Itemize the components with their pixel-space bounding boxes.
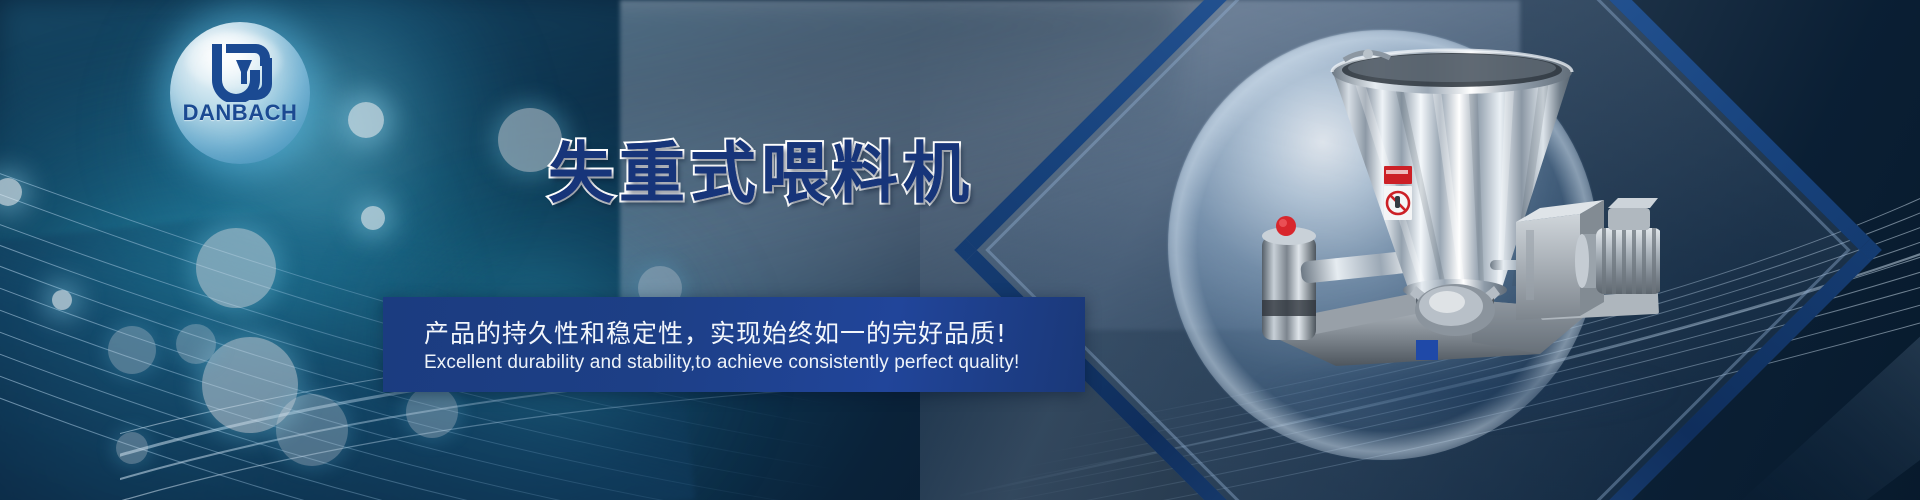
- bokeh-circle-14: [116, 432, 148, 464]
- product-hero-banner: DANBACH 失重式喂料机 失重式喂料机 产品的持久性和稳定性，实现始终如一的…: [0, 0, 1920, 500]
- brand-name: DANBACH: [166, 100, 314, 126]
- bokeh-circle-12: [176, 324, 216, 364]
- loss-in-weight-feeder-image: [1240, 48, 1660, 398]
- danbach-monogram-icon: [196, 40, 288, 102]
- tagline-english: Excellent durability and stability,to ac…: [424, 352, 1019, 374]
- bokeh-circle-2: [196, 228, 276, 308]
- bokeh-circle-6: [361, 206, 385, 230]
- page-title: 失重式喂料机: [548, 120, 974, 216]
- bokeh-circle-3: [108, 326, 156, 374]
- bokeh-circle-5: [348, 102, 384, 138]
- tagline-chinese: 产品的持久性和稳定性，实现始终如一的完好品质!: [424, 314, 1007, 350]
- bokeh-circle-15: [52, 290, 72, 310]
- bokeh-circle-13: [406, 386, 458, 438]
- bokeh-circle-8: [276, 394, 348, 466]
